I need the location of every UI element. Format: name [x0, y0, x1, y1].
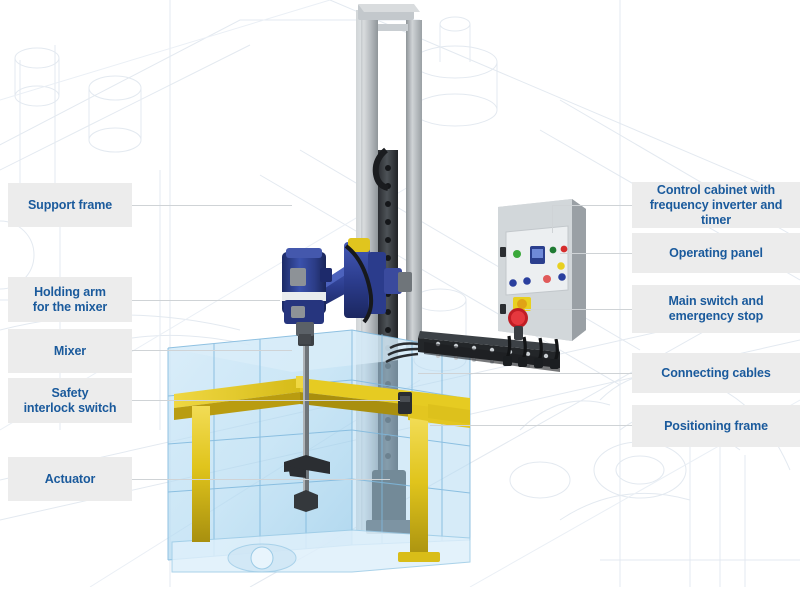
operating-panel-graphic	[506, 226, 568, 295]
diagram-canvas: Support frame Holding arm for the mixer …	[0, 0, 800, 587]
callout-safety-interlock-switch[interactable]: Safety interlock switch	[8, 378, 132, 423]
leader-positioning-frame	[430, 425, 632, 426]
callout-holding-arm-text: Holding arm for the mixer	[33, 285, 107, 315]
callout-holding-arm[interactable]: Holding arm for the mixer	[8, 277, 132, 322]
callout-actuator-text: Actuator	[45, 472, 96, 487]
callout-connecting-cables[interactable]: Connecting cables	[632, 353, 800, 393]
leader-holding-arm	[132, 300, 280, 301]
leader-control-cabinet	[552, 205, 632, 206]
callout-safety-interlock-switch-text: Safety interlock switch	[24, 386, 117, 416]
leader-actuator	[132, 479, 390, 480]
callout-connecting-cables-text: Connecting cables	[661, 366, 770, 381]
callout-support-frame-text: Support frame	[28, 198, 112, 213]
safety-interlock-switch-graphic	[398, 392, 412, 414]
callout-positioning-frame[interactable]: Positioning frame	[632, 405, 800, 447]
leader-mixer	[132, 350, 292, 351]
callout-positioning-frame-text: Positioning frame	[664, 419, 768, 434]
callout-main-switch-emergency-stop-text: Main switch and emergency stop	[668, 294, 763, 324]
leader-connecting-cables	[418, 373, 632, 374]
control-cabinet-graphic	[498, 199, 586, 341]
leader-cabinet-drop	[552, 205, 553, 233]
leader-support-frame	[132, 205, 292, 206]
callout-control-cabinet[interactable]: Control cabinet with frequency inverter …	[632, 182, 800, 228]
leader-operating-panel	[560, 253, 632, 254]
leader-main-switch	[525, 309, 632, 310]
callout-operating-panel[interactable]: Operating panel	[632, 233, 800, 273]
callout-support-frame[interactable]: Support frame	[8, 183, 132, 227]
callout-main-switch-emergency-stop[interactable]: Main switch and emergency stop	[632, 285, 800, 333]
callout-mixer-text: Mixer	[54, 344, 86, 359]
callout-control-cabinet-text: Control cabinet with frequency inverter …	[638, 183, 794, 228]
callout-mixer[interactable]: Mixer	[8, 329, 132, 373]
callout-operating-panel-text: Operating panel	[669, 246, 763, 261]
leader-safety-interlock	[132, 400, 400, 401]
mixer-motor-graphic	[282, 248, 332, 344]
callout-actuator[interactable]: Actuator	[8, 457, 132, 501]
